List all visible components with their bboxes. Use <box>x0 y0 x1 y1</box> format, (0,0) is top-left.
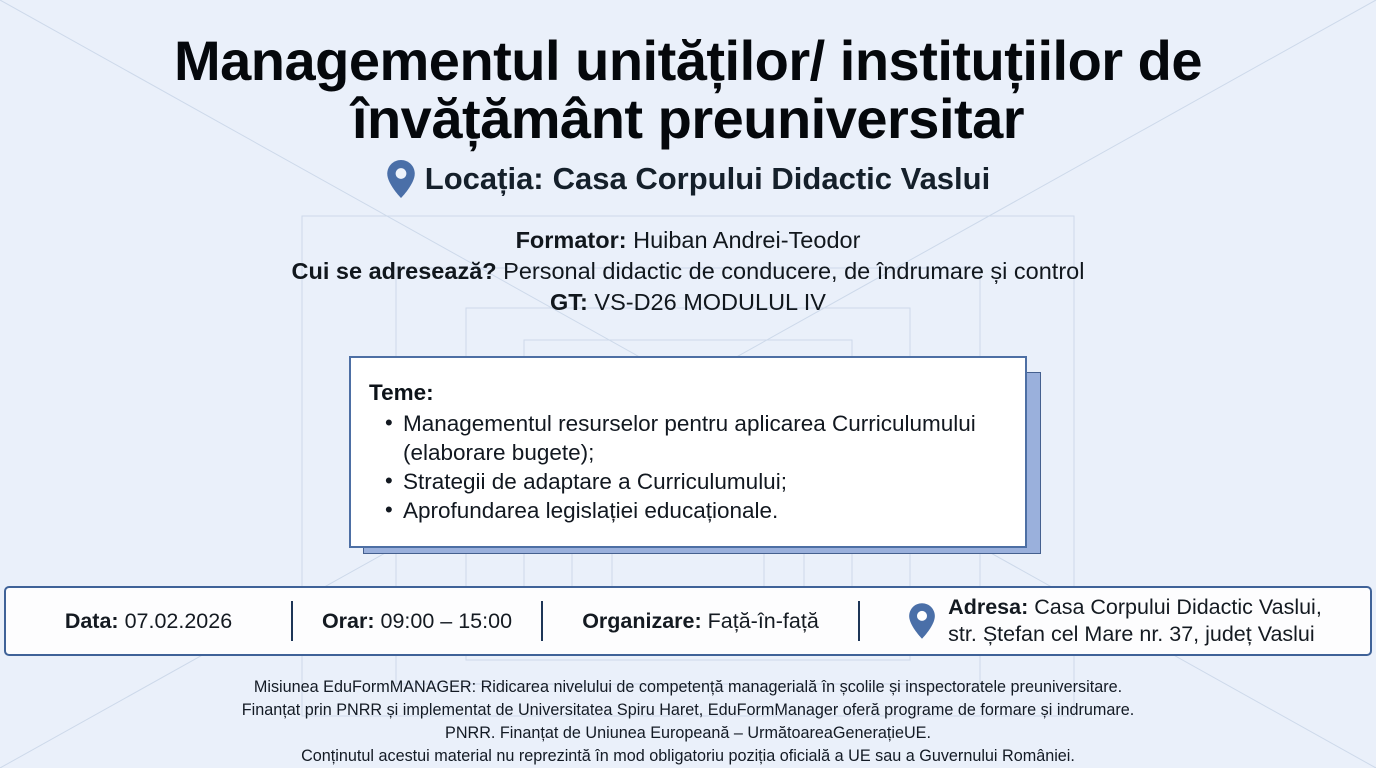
footer: Misiunea EduFormMANAGER: Ridicarea nivel… <box>0 676 1376 768</box>
group-row: GT: VS-D26 MODULUL IV <box>0 287 1376 318</box>
trainer-row: Formator: Huiban Andrei-Teodor <box>0 225 1376 256</box>
address-text: Adresa: Casa Corpului Didactic Vaslui, s… <box>948 594 1322 648</box>
list-item: Aprofundarea legislației educaționale. <box>369 497 1001 526</box>
footer-line-3: PNRR. Finanțat de Uniunea Europeană – Ur… <box>0 722 1376 745</box>
footer-line-1: Misiunea EduFormMANAGER: Ridicarea nivel… <box>0 676 1376 699</box>
date-label: Data: <box>65 609 119 633</box>
page-title: Managementul unităților/ instituțiilor d… <box>0 32 1376 147</box>
info-date: Data: 07.02.2026 <box>6 588 291 654</box>
location-value: Casa Corpului Didactic Vaslui <box>553 161 991 197</box>
format-value: Față-în-față <box>708 609 819 633</box>
header: Managementul unităților/ instituțiilor d… <box>0 0 1376 199</box>
footer-line-4: Conținutul acestui material nu reprezint… <box>0 745 1376 768</box>
poster-root: Managementul unităților/ instituțiilor d… <box>0 0 1376 768</box>
address-line-1: Casa Corpului Didactic Vaslui, <box>1034 595 1322 619</box>
audience-row: Cui se adresează? Personal didactic de c… <box>0 256 1376 287</box>
map-pin-icon <box>908 602 936 640</box>
address-line-2: str. Ștefan cel Mare nr. 37, județ Vaslu… <box>948 622 1315 646</box>
info-time: Orar: 09:00 – 15:00 <box>293 588 541 654</box>
map-pin-icon <box>386 159 416 199</box>
trainer-label: Formator: <box>516 227 627 253</box>
meta-block: Formator: Huiban Andrei-Teodor Cui se ad… <box>0 225 1376 318</box>
list-item: Managementul resurselor pentru aplicarea… <box>369 410 1001 468</box>
date-value: 07.02.2026 <box>125 609 233 633</box>
themes-list: Managementul resurselor pentru aplicarea… <box>369 410 1001 525</box>
info-bar: Data: 07.02.2026 Orar: 09:00 – 15:00 Org… <box>4 586 1372 656</box>
group-value: VS-D26 MODULUL IV <box>594 289 826 315</box>
themes-card: Teme: Managementul resurselor pentru apl… <box>349 356 1027 547</box>
info-address: Adresa: Casa Corpului Didactic Vaslui, s… <box>860 588 1370 654</box>
time-value: 09:00 – 15:00 <box>381 609 513 633</box>
audience-label: Cui se adresează? <box>292 258 497 284</box>
trainer-value: Huiban Andrei-Teodor <box>633 227 860 253</box>
themes-card-wrapper: Teme: Managementul resurselor pentru apl… <box>349 356 1027 547</box>
address-label: Adresa: <box>948 595 1028 619</box>
location-label: Locația: <box>425 161 544 197</box>
themes-heading: Teme: <box>369 380 1001 406</box>
footer-line-2: Finanțat prin PNRR și implementat de Uni… <box>0 699 1376 722</box>
audience-value: Personal didactic de conducere, de îndru… <box>503 258 1084 284</box>
time-label: Orar: <box>322 609 375 633</box>
format-label: Organizare: <box>582 609 701 633</box>
group-label: GT: <box>550 289 588 315</box>
location-line: Locația: Casa Corpului Didactic Vaslui <box>0 159 1376 199</box>
info-format: Organizare: Față-în-față <box>543 588 858 654</box>
list-item: Strategii de adaptare a Curriculumului; <box>369 468 1001 497</box>
